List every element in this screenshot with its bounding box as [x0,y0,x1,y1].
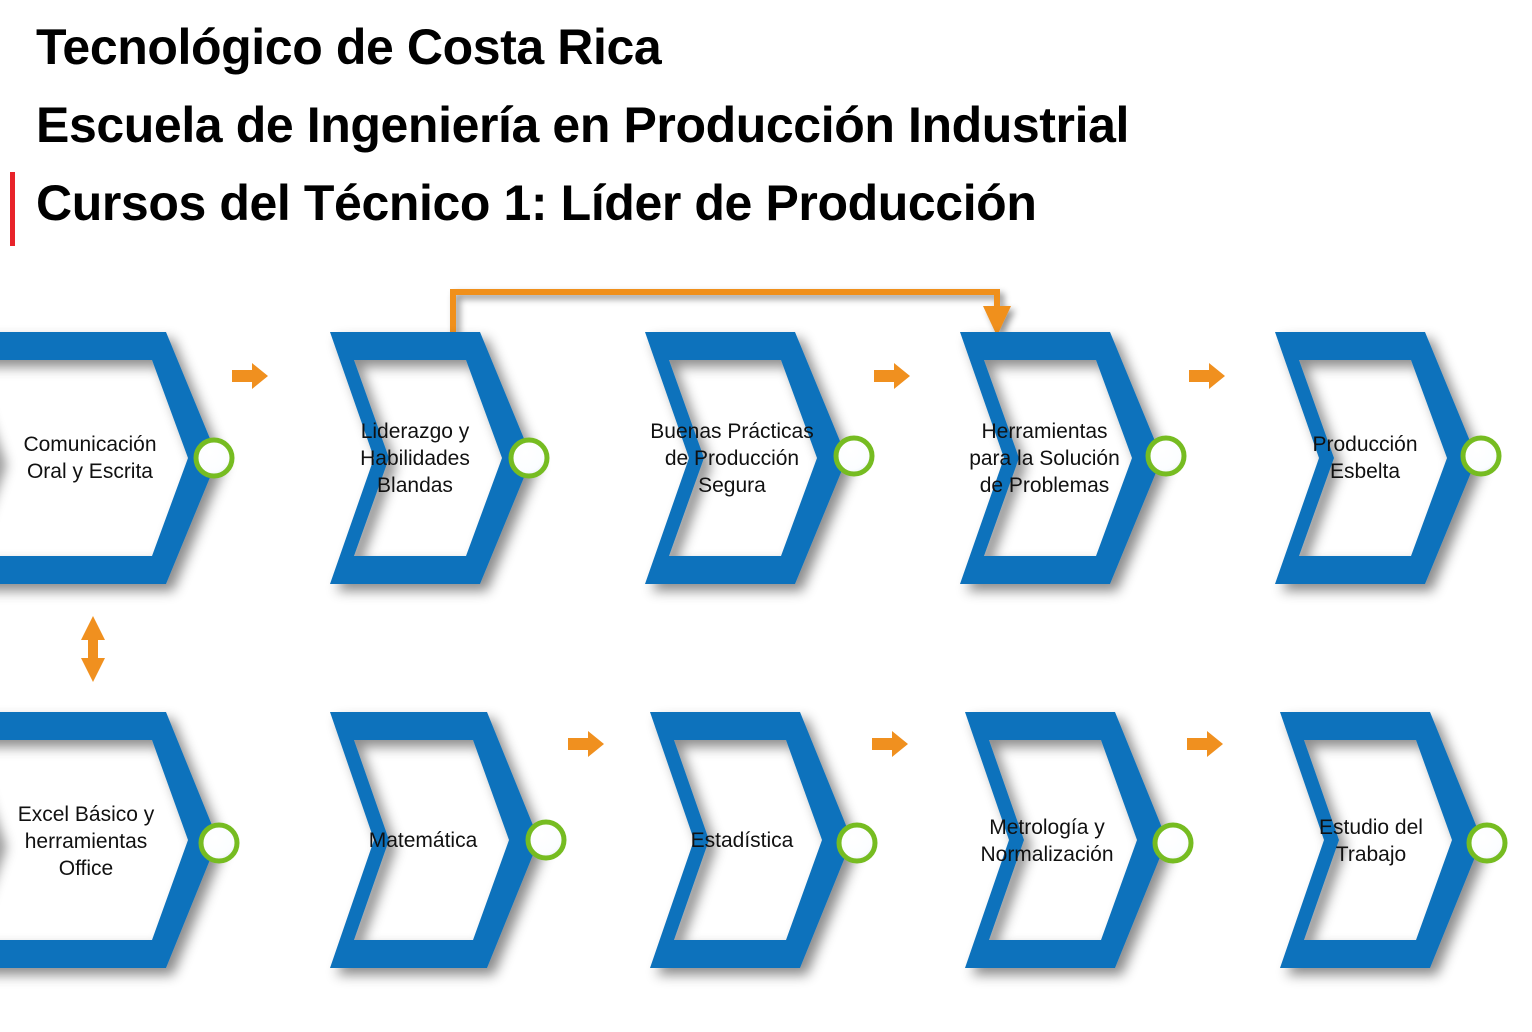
arrow-right-icon-top-1 [232,363,268,389]
ring-node-matematica [528,822,564,858]
arrow-right-icon-bottom-2 [568,731,604,757]
connector-bracket-liderazgo-to-herramientas [453,292,1011,336]
ring-node-liderazgo [511,440,547,476]
ring-node-metrologia [1155,825,1191,861]
chevron-matematica[interactable] [330,712,539,968]
chevron-herramientas[interactable] [960,332,1162,584]
arrow-right-icon-bottom-4 [1187,731,1223,757]
ring-node-comunicacion [196,440,232,476]
arrow-right-icon-top-4 [1189,363,1225,389]
arrow-right-icon-top-3 [874,363,910,389]
process-flow-diagram [0,0,1532,1032]
double-arrow-vertical-icon [81,616,105,682]
chevron-liderazgo[interactable] [330,332,532,584]
chevron-comunicacion[interactable] [0,332,218,584]
chevron-buenas-practicas[interactable] [645,332,847,584]
ring-node-herramientas [1148,438,1184,474]
ring-node-excel [201,825,237,861]
ring-node-estudio-trabajo [1469,825,1505,861]
chevron-estadistica[interactable] [650,712,852,968]
arrow-right-icon-bottom-3 [872,731,908,757]
ring-node-buenas-practicas [836,438,872,474]
ring-node-estadistica [839,825,875,861]
chevron-metrologia[interactable] [965,712,1167,968]
chevron-produccion-esbelta[interactable] [1275,332,1477,584]
ring-node-produccion-esbelta [1463,438,1499,474]
chevron-estudio-trabajo[interactable] [1280,712,1482,968]
chevron-excel[interactable] [0,712,218,968]
